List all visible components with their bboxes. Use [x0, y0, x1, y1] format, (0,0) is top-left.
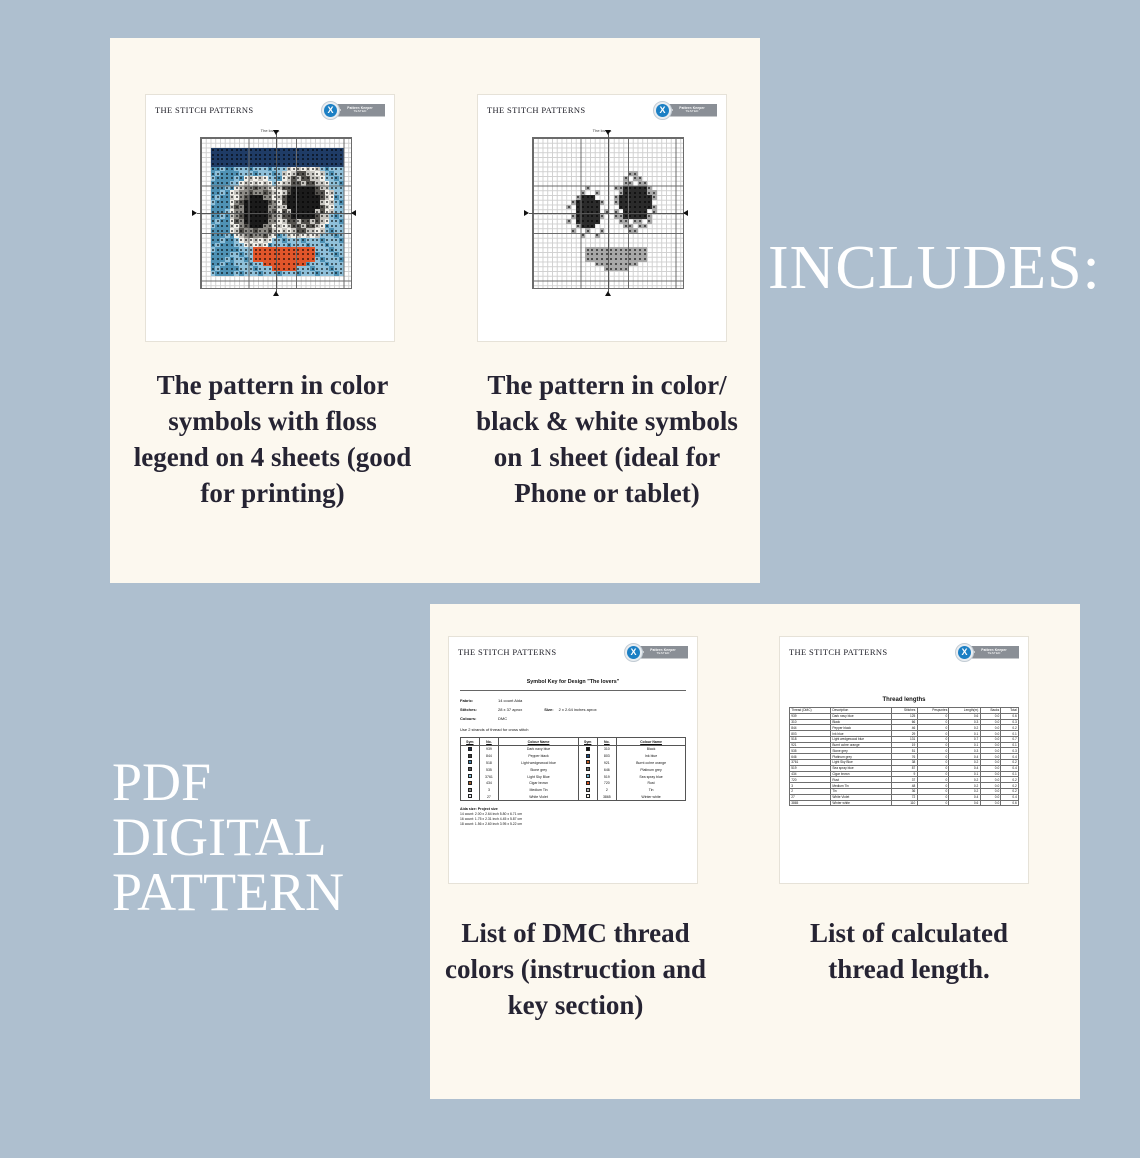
pattern-keeper-badge-icon: Pattern Keeper TESTED X: [624, 643, 688, 662]
center-marker-bottom-icon: [273, 291, 279, 296]
legend-number: 720: [597, 780, 617, 787]
col-no-left: No.: [479, 738, 499, 746]
promo-graphic: INCLUDES: THE STITCH PATTERNS Pattern Ke…: [0, 0, 1140, 1158]
legend-number: 3761: [479, 773, 499, 780]
divider: [460, 690, 686, 691]
symbol-key-title: Symbol Key for Design "The lovers": [460, 679, 686, 685]
badge-x-glyph: X: [656, 104, 669, 117]
legend-row: 535Stone grey646Platinum grey: [461, 766, 686, 773]
legend-row: 939Dark navy blue310Black: [461, 746, 686, 753]
legend-number: 921: [597, 760, 617, 767]
fabric-row: Fabric: 14 count Aida: [460, 698, 686, 703]
size-value: 2 x 2.64 inches aprox: [559, 707, 597, 712]
sheet-symbol-key: THE STITCH PATTERNS Pattern Keeper TESTE…: [448, 636, 698, 884]
thread-lengths-body: Thread lengths Thread (DMC)DescriptionSt…: [780, 667, 1028, 806]
aida-line-3: 18 count: 1.56 x 2.60 inch 3.95 x 5.22 c…: [460, 822, 522, 826]
legend-number: 434: [479, 780, 499, 787]
legend-colour-name: Stone grey: [499, 766, 579, 773]
legend-symbol: [578, 773, 597, 780]
center-marker-left-icon: [524, 210, 529, 216]
legend-colour-name: Dark navy blue: [499, 746, 579, 753]
badge-line-2: TESTED: [353, 110, 366, 114]
center-marker-right-icon: [351, 210, 356, 216]
legend-symbol: [578, 760, 597, 767]
sheet-header: THE STITCH PATTERNS Pattern Keeper TESTE…: [780, 637, 1028, 667]
colours-value: DMC: [498, 716, 507, 721]
legend-number: 803: [597, 753, 617, 760]
badge-line-2: TESTED: [685, 110, 698, 114]
badge-line-2: TESTED: [987, 652, 1000, 656]
legend-colour-name: Medium Tin: [499, 787, 579, 794]
legend-colour-name: Platinum grey: [617, 766, 686, 773]
caption-thread-length: List of calculated thread length.: [770, 916, 1048, 988]
legend-symbol: [578, 793, 597, 800]
stitches-label: Stitches:: [460, 707, 498, 712]
center-marker-left-icon: [192, 210, 197, 216]
colours-row: Colours: DMC: [460, 716, 686, 721]
colours-label: Colours:: [460, 716, 498, 721]
legend-number: 939: [479, 746, 499, 753]
legend-symbol: [461, 746, 480, 753]
pattern-keeper-badge-icon: Pattern Keeper TESTED X: [955, 643, 1019, 662]
legend-symbol: [578, 746, 597, 753]
thread-lengths-title: Thread lengths: [789, 697, 1019, 703]
col-name-right: Colour Name: [617, 738, 686, 746]
legend-row: 844Pepper black803Ink blue: [461, 753, 686, 760]
sheet-header: THE STITCH PATTERNS Pattern Keeper TESTE…: [146, 95, 394, 125]
legend-symbol: [461, 793, 480, 800]
legend-colour-name: White Violet: [499, 793, 579, 800]
legend-row: 27White Violet3865Winter white: [461, 793, 686, 800]
legend-symbol: [461, 773, 480, 780]
center-line-horizontal: [197, 213, 355, 214]
legend-colour-name: Winter white: [617, 793, 686, 800]
fabric-value: 14 count Aida: [498, 698, 522, 703]
floss-legend-table: Sym No. Colour Name Sym No. Colour Name …: [460, 737, 686, 801]
thread-lengths-table: Thread (DMC)DescriptionStitchesPespuntes…: [789, 707, 1019, 806]
sheet-brand-title: THE STITCH PATTERNS: [155, 105, 253, 115]
threads-cell-description: Winter white: [831, 800, 892, 806]
legend-symbol: [578, 753, 597, 760]
badge-x-glyph: X: [627, 646, 640, 659]
size-label: Size:: [544, 707, 553, 712]
center-line-horizontal: [529, 213, 687, 214]
badge-line-2: TESTED: [656, 652, 669, 656]
legend-colour-name: Sea spray blue: [617, 773, 686, 780]
strands-note: Use 2 strands of thread for cross stitch: [460, 727, 686, 732]
aida-heading: Aida size: Project size: [460, 807, 498, 811]
threads-cell-stitches: 110: [892, 800, 918, 806]
legend-number: 518: [479, 760, 499, 767]
legend-colour-name: Light wedgewood blue: [499, 760, 579, 767]
legend-symbol: [578, 780, 597, 787]
legend-symbol: [461, 780, 480, 787]
legend-row: 3Medium Tin2Tin: [461, 787, 686, 794]
legend-colour-name: Black: [617, 746, 686, 753]
fabric-label: Fabric:: [460, 698, 498, 703]
chart-design-label: The lovers: [146, 128, 394, 133]
legend-colour-name: Tin: [617, 787, 686, 794]
legend-row: 518Light wedgewood blue921Burnt ochre or…: [461, 760, 686, 767]
legend-symbol: [578, 766, 597, 773]
col-sym-left: Sym: [461, 738, 480, 746]
pdf-line-1: PDF: [112, 755, 344, 810]
badge-x-glyph: X: [958, 646, 971, 659]
caption-bw-symbols: The pattern in color/ black & white symb…: [462, 368, 752, 512]
center-marker-bottom-icon: [605, 291, 611, 296]
pattern-keeper-badge-icon: Pattern Keeper TESTED X: [653, 101, 717, 120]
legend-symbol: [461, 760, 480, 767]
legend-colour-name: Cigar brown: [499, 780, 579, 787]
symbol-key-body: Symbol Key for Design "The lovers" Fabri…: [449, 667, 697, 827]
caption-color-symbols: The pattern in color symbols with floss …: [130, 368, 415, 512]
col-no-right: No.: [597, 738, 617, 746]
legend-number: 2: [597, 787, 617, 794]
pattern-keeper-badge-icon: Pattern Keeper TESTED X: [321, 101, 385, 120]
center-marker-top-icon: [605, 130, 611, 135]
sheet-brand-title: THE STITCH PATTERNS: [789, 647, 887, 657]
threads-cell-pespuntes: 0: [917, 800, 949, 806]
legend-number: 646: [597, 766, 617, 773]
threads-cell-backs: 0.0: [980, 800, 1001, 806]
aida-line-1: 14 count: 2.00 x 2.64 inch 5.80 x 6.71 c…: [460, 812, 522, 816]
legend-number: 3: [479, 787, 499, 794]
pdf-line-3: PATTERN: [112, 865, 344, 920]
legend-number: 844: [479, 753, 499, 760]
center-marker-right-icon: [683, 210, 688, 216]
legend-number: 3865: [597, 793, 617, 800]
stitches-row: Stitches: 28 x 37 aprox Size: 2 x 2.64 i…: [460, 707, 686, 712]
legend-header-row: Sym No. Colour Name Sym No. Colour Name: [461, 738, 686, 746]
stitches-value: 28 x 37 aprox: [498, 707, 522, 712]
caption-dmc-list: List of DMC thread colors (instruction a…: [438, 916, 713, 1024]
legend-symbol: [461, 753, 480, 760]
pdf-digital-pattern-heading: PDF DIGITAL PATTERN: [112, 755, 344, 920]
sheet-header: THE STITCH PATTERNS Pattern Keeper TESTE…: [449, 637, 697, 667]
legend-number: 27: [479, 793, 499, 800]
pdf-line-2: DIGITAL: [112, 810, 344, 865]
legend-row: 434Cigar brown720Rust: [461, 780, 686, 787]
legend-symbol: [461, 766, 480, 773]
legend-row: 3761Light Sky Blue519Sea spray blue: [461, 773, 686, 780]
legend-colour-name: Pepper black: [499, 753, 579, 760]
threads-cell-length: 0.6: [949, 800, 980, 806]
center-marker-top-icon: [273, 130, 279, 135]
aida-line-2: 16 count: 1.75 x 2.31 inch 4.45 x 5.87 c…: [460, 817, 522, 821]
legend-symbol: [578, 787, 597, 794]
threads-cell-thread: 3865: [790, 800, 831, 806]
legend-symbol: [461, 787, 480, 794]
sheet-brand-title: THE STITCH PATTERNS: [487, 105, 585, 115]
chart-design-label: The lovers: [478, 128, 726, 133]
sheet-bw-chart: THE STITCH PATTERNS Pattern Keeper TESTE…: [477, 94, 727, 342]
legend-number: 310: [597, 746, 617, 753]
legend-colour-name: Rust: [617, 780, 686, 787]
threads-cell-total: 0.6: [1001, 800, 1019, 806]
sheet-brand-title: THE STITCH PATTERNS: [458, 647, 556, 657]
chart-area-color: The lovers: [146, 125, 394, 343]
legend-colour-name: Ink blue: [617, 753, 686, 760]
legend-number: 535: [479, 766, 499, 773]
aida-size-block: Aida size: Project size 14 count: 2.00 x…: [460, 807, 686, 827]
chart-area-bw: The lovers: [478, 125, 726, 343]
legend-colour-name: Burnt ochre orange: [617, 760, 686, 767]
col-sym-right: Sym: [578, 738, 597, 746]
sheet-color-chart: THE STITCH PATTERNS Pattern Keeper TESTE…: [145, 94, 395, 342]
legend-number: 519: [597, 773, 617, 780]
legend-colour-name: Light Sky Blue: [499, 773, 579, 780]
sheet-thread-lengths: THE STITCH PATTERNS Pattern Keeper TESTE…: [779, 636, 1029, 884]
sheet-header: THE STITCH PATTERNS Pattern Keeper TESTE…: [478, 95, 726, 125]
threads-row: 3865Winter white11000.60.00.6: [790, 800, 1019, 806]
col-name-left: Colour Name: [499, 738, 579, 746]
includes-heading: INCLUDES:: [768, 237, 1101, 299]
badge-x-glyph: X: [324, 104, 337, 117]
